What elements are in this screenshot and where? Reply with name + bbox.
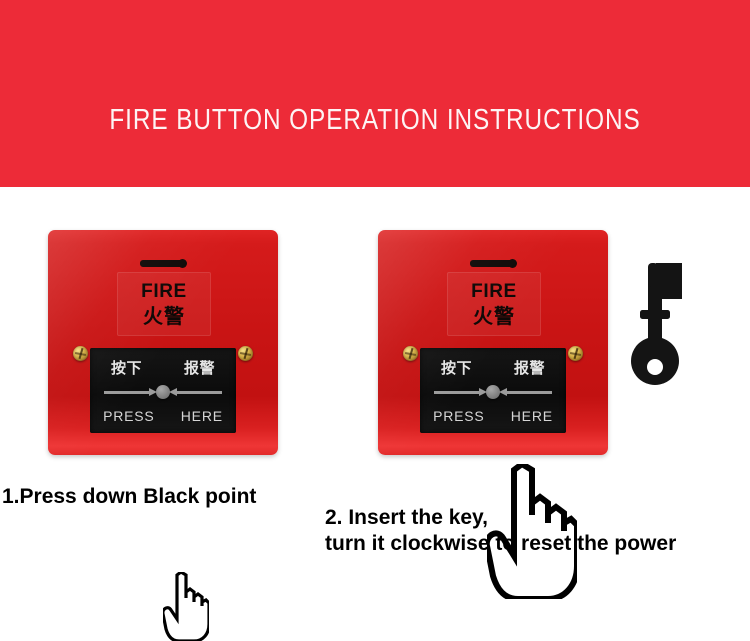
fire-call-point-press[interactable]: FIRE 火警 按下 报警 PRESS HERE	[48, 230, 278, 455]
hand-pointer-cursor	[163, 572, 209, 641]
fire-label-en: FIRE	[471, 282, 517, 301]
illustration-stage: FIRE 火警 按下 报警 PRESS HERE FIRE 火警	[0, 187, 750, 629]
black-point-button[interactable]	[486, 385, 500, 399]
panel-en-right: HERE	[511, 408, 553, 424]
page-title: FIRE BUTTON OPERATION INSTRUCTIONS	[60, 104, 690, 137]
panel-en-left: PRESS	[433, 408, 484, 424]
fire-label-cn: 火警	[143, 306, 185, 326]
caption-step-1: 1.Press down Black point	[2, 484, 256, 510]
panel-chinese-row: 按下 报警	[420, 357, 566, 378]
arrow-right-icon	[434, 391, 480, 394]
screw-right-icon	[238, 346, 253, 361]
fire-label-en: FIRE	[141, 282, 187, 301]
key-icon	[630, 257, 694, 387]
fire-label-cn: 火警	[473, 306, 515, 326]
panel-cn-left: 按下	[441, 357, 472, 378]
screw-right-icon	[568, 346, 583, 361]
fire-label-plate: FIRE 火警	[447, 272, 541, 336]
fire-label-plate: FIRE 火警	[117, 272, 211, 336]
key-slot-icon	[470, 260, 516, 267]
panel-arrow-row	[90, 384, 236, 400]
arrow-left-icon	[176, 391, 222, 394]
instruction-panel[interactable]: 按下 报警 PRESS HERE	[420, 348, 566, 433]
caption-step-2-line-1: 2. Insert the key,	[325, 506, 488, 529]
panel-chinese-row: 按下 报警	[90, 357, 236, 378]
black-point-button[interactable]	[156, 385, 170, 399]
key-slot-icon	[140, 260, 186, 267]
screw-left-icon	[73, 346, 88, 361]
panel-english-row: PRESS HERE	[420, 408, 566, 424]
instruction-panel[interactable]: 按下 报警 PRESS HERE	[90, 348, 236, 433]
panel-arrow-row	[420, 384, 566, 400]
fire-call-point-reset[interactable]: FIRE 火警 按下 报警 PRESS HERE	[378, 230, 608, 455]
panel-cn-right: 报警	[184, 357, 215, 378]
header-banner: FIRE BUTTON OPERATION INSTRUCTIONS	[0, 0, 750, 187]
arrow-left-icon	[506, 391, 552, 394]
panel-en-right: HERE	[181, 408, 223, 424]
arrow-right-icon	[104, 391, 150, 394]
panel-cn-right: 报警	[514, 357, 545, 378]
panel-english-row: PRESS HERE	[90, 408, 236, 424]
caption-step-2-line-2: turn it clockwise to reset the power	[325, 531, 676, 557]
screw-left-icon	[403, 346, 418, 361]
caption-step-2: 2. Insert the key, turn it clockwise to …	[325, 479, 676, 583]
panel-cn-left: 按下	[111, 357, 142, 378]
panel-en-left: PRESS	[103, 408, 154, 424]
